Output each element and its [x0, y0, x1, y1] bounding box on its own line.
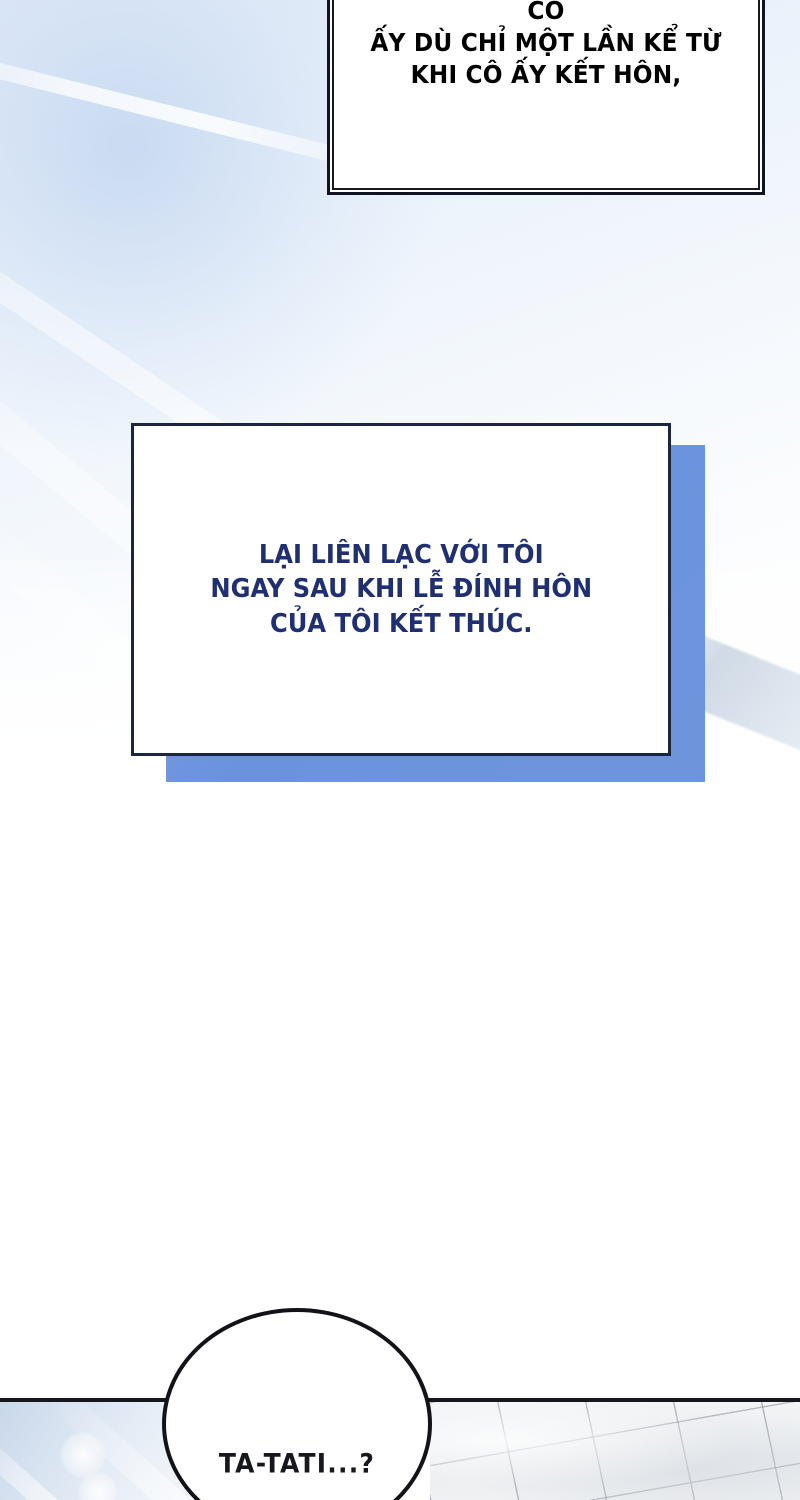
bokeh-icon	[78, 1472, 118, 1500]
comic-page: TATIANA, NGƯỜI CHƯA TỪNG CHO TÔI ĐẾN THĂ…	[0, 0, 800, 1500]
tiled-floor	[430, 1402, 800, 1500]
panel-upper: TATIANA, NGƯỜI CHƯA TỪNG CHO TÔI ĐẾN THĂ…	[0, 0, 800, 1400]
narration-box-middle-text: LẠI LIÊN LẠC VỚI TÔI NGAY SAU KHI LỄ ĐÍN…	[210, 538, 592, 642]
narration-box-middle: LẠI LIÊN LẠC VỚI TÔI NGAY SAU KHI LỄ ĐÍN…	[131, 423, 671, 756]
narration-box-top: TATIANA, NGƯỜI CHƯA TỪNG CHO TÔI ĐẾN THĂ…	[327, 0, 765, 195]
narration-box-top-text: TATIANA, NGƯỜI CHƯA TỪNG CHO TÔI ĐẾN THĂ…	[354, 0, 737, 91]
speech-bubble-text: TA-TATI...?	[219, 1448, 375, 1479]
